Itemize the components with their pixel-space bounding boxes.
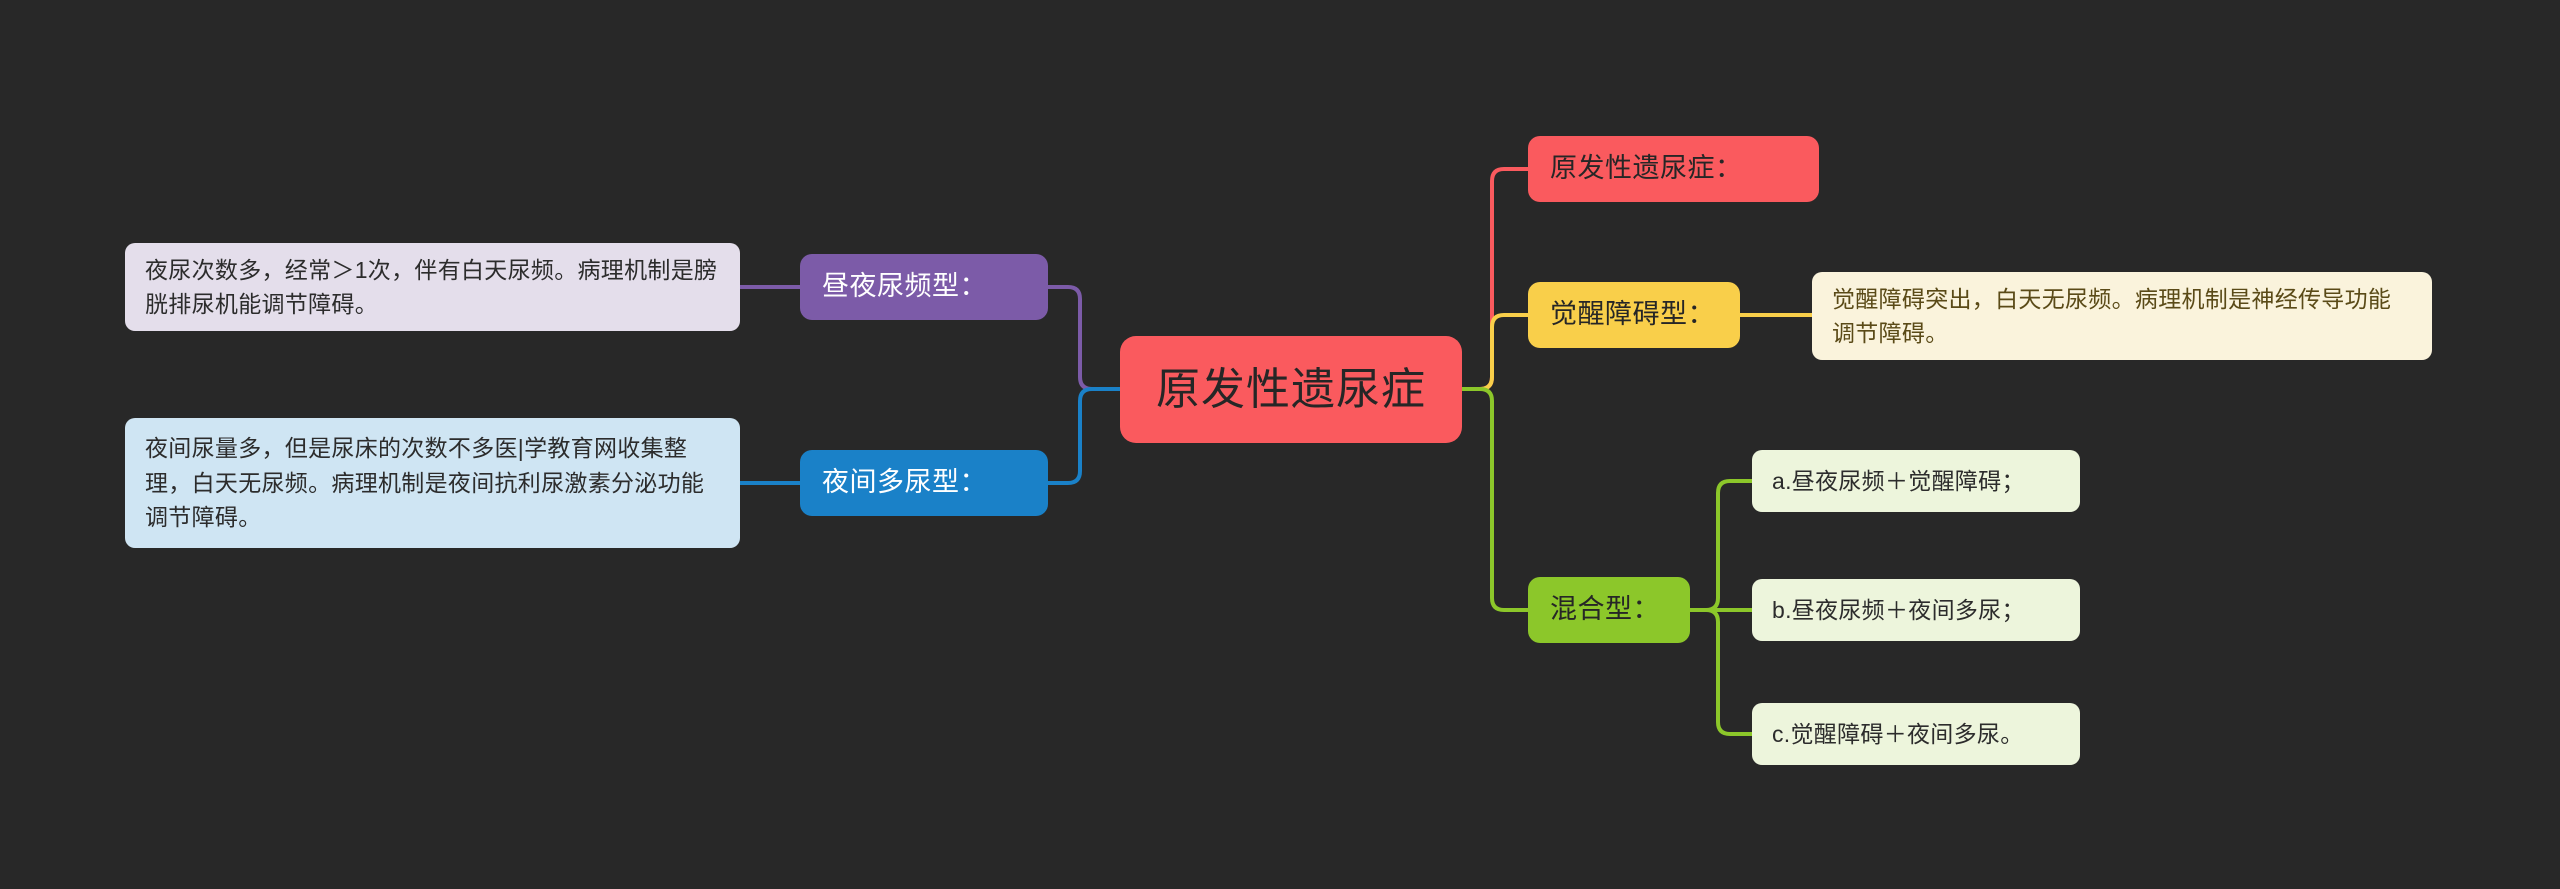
branch-label: 原发性遗尿症： xyxy=(1550,151,1797,186)
child-node-mixed-b[interactable]: b.昼夜尿频＋夜间多尿； xyxy=(1752,579,2080,641)
branch-label: 觉醒障碍型： xyxy=(1550,297,1718,332)
wire-green-to-a xyxy=(1690,481,1752,610)
child-label: a.昼夜尿频＋觉醒障碍； xyxy=(1772,464,2060,499)
note-text: 夜间尿量多，但是尿床的次数不多医|学教育网收集整理，白天无尿频。病理机制是夜间抗… xyxy=(145,431,720,535)
wire-blue-to-root xyxy=(1048,389,1120,483)
branch-node-mixed-type[interactable]: 混合型： xyxy=(1528,577,1690,643)
child-label: c.觉醒障碍＋夜间多尿。 xyxy=(1772,717,2060,752)
note-nocturnal-polyuria[interactable]: 夜间尿量多，但是尿床的次数不多医|学教育网收集整理，白天无尿频。病理机制是夜间抗… xyxy=(125,418,740,548)
branch-label: 夜间多尿型： xyxy=(822,465,1026,500)
note-text: 觉醒障碍突出，白天无尿频。病理机制是神经传导功能调节障碍。 xyxy=(1832,282,2412,351)
branch-node-arousal-disorder[interactable]: 觉醒障碍型： xyxy=(1528,282,1740,348)
root-label: 原发性遗尿症 xyxy=(1150,362,1432,417)
branch-node-nocturnal-polyuria[interactable]: 夜间多尿型： xyxy=(800,450,1048,516)
root-node[interactable]: 原发性遗尿症 xyxy=(1120,336,1462,443)
wire-root-to-red xyxy=(1462,169,1528,389)
branch-node-primary-enuresis[interactable]: 原发性遗尿症： xyxy=(1528,136,1819,202)
branch-label: 昼夜尿频型： xyxy=(822,269,1026,304)
mindmap-canvas: 夜尿次数多，经常＞1次，伴有白天尿频。病理机制是膀胱排尿机能调节障碍。 夜间尿量… xyxy=(0,0,2560,889)
child-node-mixed-a[interactable]: a.昼夜尿频＋觉醒障碍； xyxy=(1752,450,2080,512)
note-text: 夜尿次数多，经常＞1次，伴有白天尿频。病理机制是膀胱排尿机能调节障碍。 xyxy=(145,253,720,322)
wire-green-to-c xyxy=(1690,610,1752,734)
wire-purple-to-root xyxy=(1048,287,1120,389)
note-arousal-disorder[interactable]: 觉醒障碍突出，白天无尿频。病理机制是神经传导功能调节障碍。 xyxy=(1812,272,2432,360)
wire-root-to-yellow xyxy=(1462,315,1528,389)
child-node-mixed-c[interactable]: c.觉醒障碍＋夜间多尿。 xyxy=(1752,703,2080,765)
branch-node-day-night-frequency[interactable]: 昼夜尿频型： xyxy=(800,254,1048,320)
branch-label: 混合型： xyxy=(1550,592,1668,627)
wire-root-to-green xyxy=(1462,389,1528,610)
note-day-night-frequency[interactable]: 夜尿次数多，经常＞1次，伴有白天尿频。病理机制是膀胱排尿机能调节障碍。 xyxy=(125,243,740,331)
child-label: b.昼夜尿频＋夜间多尿； xyxy=(1772,593,2060,628)
